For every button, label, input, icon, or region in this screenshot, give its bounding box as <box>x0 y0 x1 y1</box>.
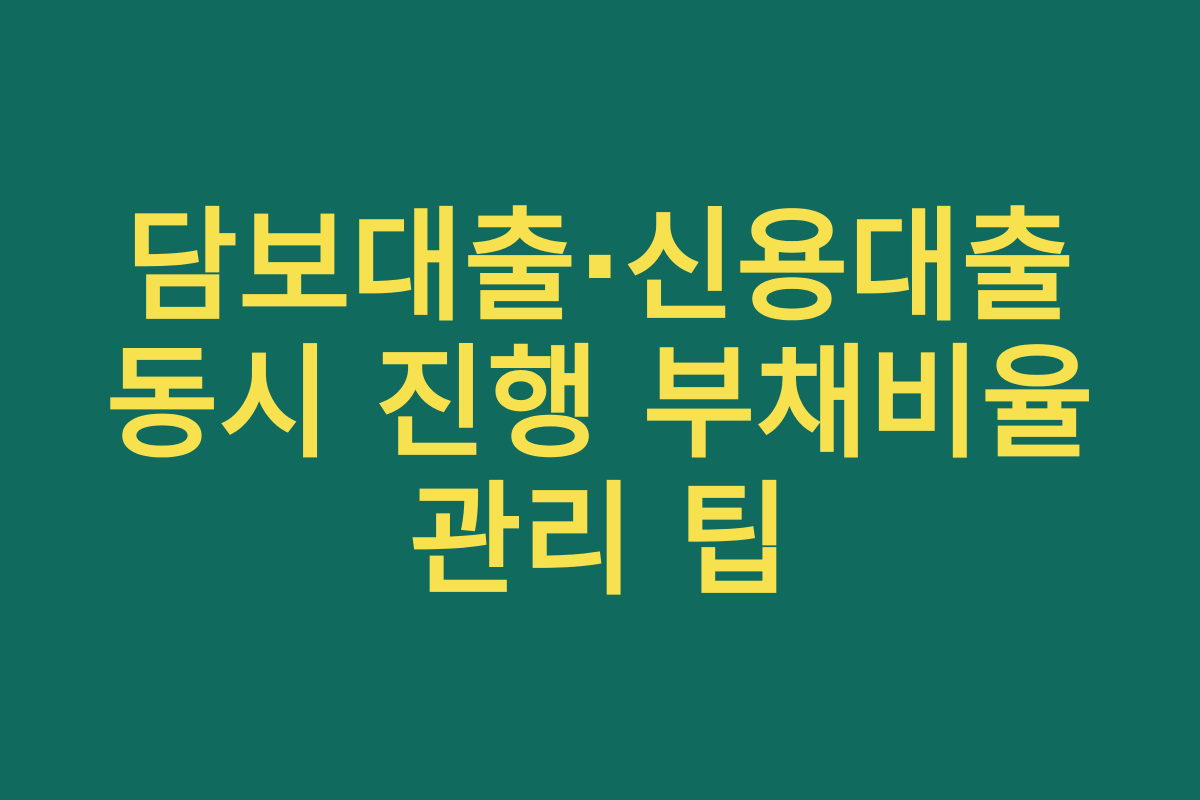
page-title: 담보대출·신용대출 동시 진행 부채비율 관리 팁 <box>95 199 1105 610</box>
thumbnail-canvas: 담보대출·신용대출 동시 진행 부채비율 관리 팁 <box>0 0 1200 800</box>
headline-block: 담보대출·신용대출 동시 진행 부채비율 관리 팁 <box>95 199 1105 610</box>
